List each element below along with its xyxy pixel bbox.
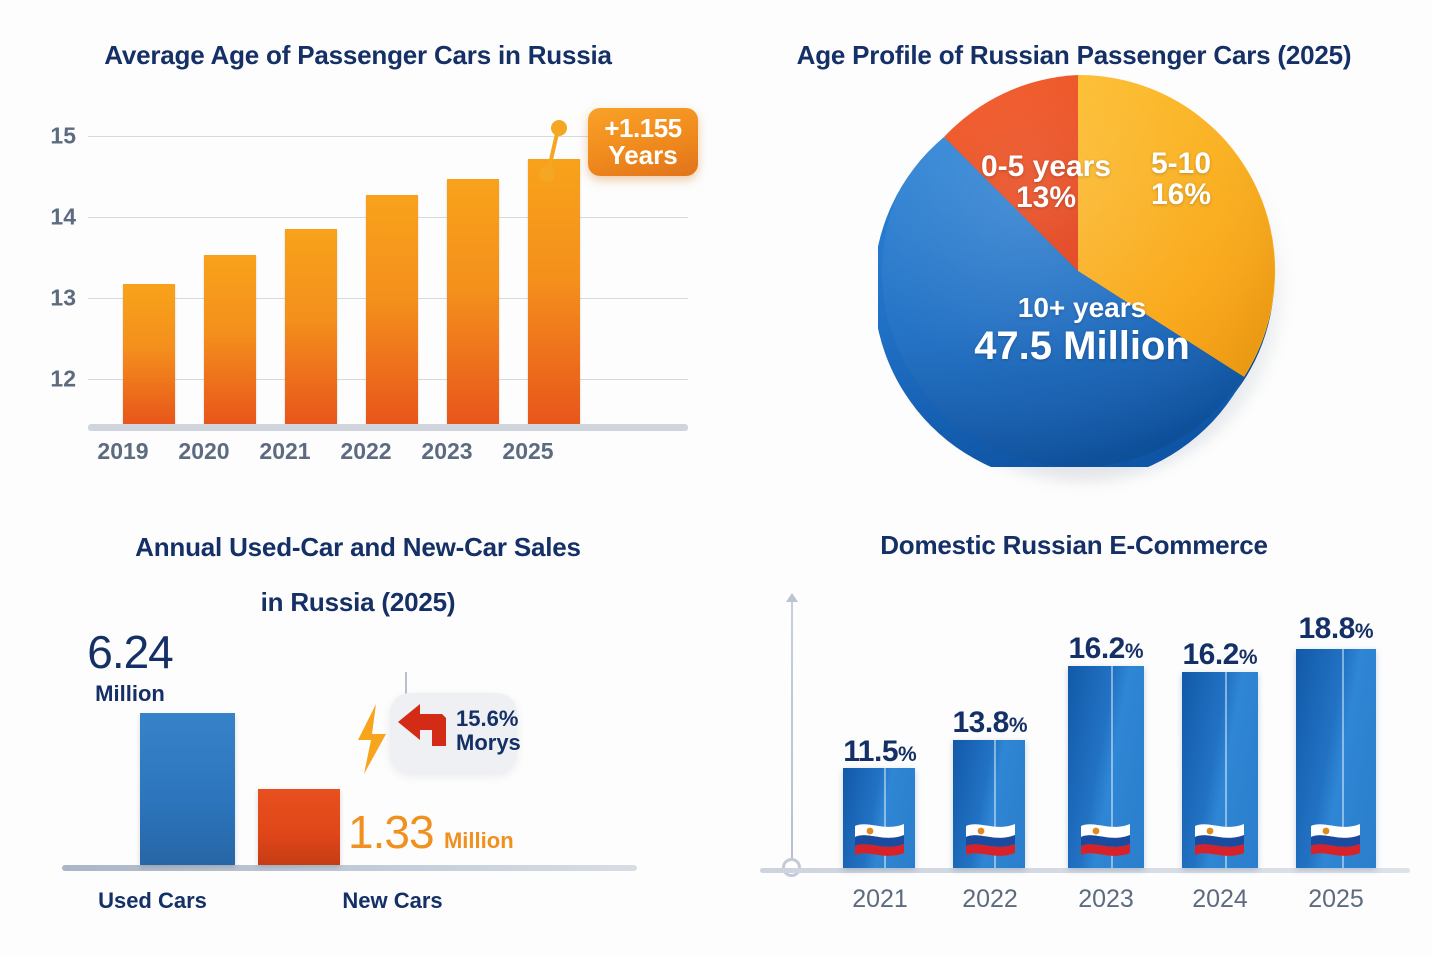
xtick-2025: 2025: [483, 438, 573, 465]
panel-average-age: Average Age of Passenger Cars in Russia …: [0, 0, 716, 510]
xtick-2021: 2021: [240, 438, 330, 465]
bar-2025[interactable]: [528, 159, 580, 425]
bar-2023[interactable]: [447, 179, 499, 425]
x-axis-baseline: [88, 424, 688, 431]
pie-slice-value: 47.5 Million: [974, 324, 1190, 368]
ytick-label: 15: [50, 123, 76, 150]
panel-age-profile: Age Profile of Russian Passenger Cars (2…: [716, 0, 1432, 510]
bar-2021[interactable]: [285, 229, 337, 425]
ytick-label: 12: [50, 366, 76, 393]
pie-label-5-10-years: 5-10 16%: [1096, 148, 1266, 210]
growth-badge-unit: Years: [608, 142, 677, 169]
xtick-2023: 2023: [402, 438, 492, 465]
panel-title-car-sales-line2: in Russia (2025): [0, 565, 716, 620]
xtick-2022: 2022: [321, 438, 411, 465]
panel-title-ecommerce: Domestic Russian E-Commerce: [716, 510, 1432, 561]
pie-label-10-plus-years: 10+ years 47.5 Million: [932, 293, 1232, 368]
panel-title-car-sales-line1: Annual Used-Car and New-Car Sales: [0, 510, 716, 565]
ytick-label: 14: [50, 204, 76, 231]
pie-svg: [878, 75, 1278, 467]
bar-2022[interactable]: [366, 195, 418, 425]
age-profile-pie-chart: 0-5 years 13% 5-10 16% 10+ years 47.5 Mi…: [874, 73, 1294, 483]
panel-ecommerce: Domestic Russian E-Commerce frillion tn …: [716, 510, 1432, 955]
growth-badge[interactable]: +1.155 Years: [588, 108, 698, 176]
panel-car-sales: Annual Used-Car and New-Car Sales in Rus…: [0, 510, 716, 955]
pie-slice-range: 10+ years: [1018, 292, 1146, 323]
pie-slice-range: 0-5 years: [981, 150, 1111, 183]
infographic-canvas: Average Age of Passenger Cars in Russia …: [0, 0, 1432, 955]
panel-title-age-profile: Age Profile of Russian Passenger Cars (2…: [716, 0, 1432, 71]
xtick-2019: 2019: [78, 438, 168, 465]
pie-slice-value: 16%: [1151, 178, 1211, 211]
growth-badge-value: +1.155: [604, 115, 681, 142]
pie-slice-range: 5-10: [1151, 147, 1211, 180]
xtick-2020: 2020: [159, 438, 249, 465]
bar-2020[interactable]: [204, 255, 256, 425]
bar-2019[interactable]: [123, 284, 175, 425]
ytick-label: 13: [50, 285, 76, 312]
pie-slice-value: 13%: [1016, 181, 1076, 214]
panel-title-average-age: Average Age of Passenger Cars in Russia: [0, 0, 716, 71]
